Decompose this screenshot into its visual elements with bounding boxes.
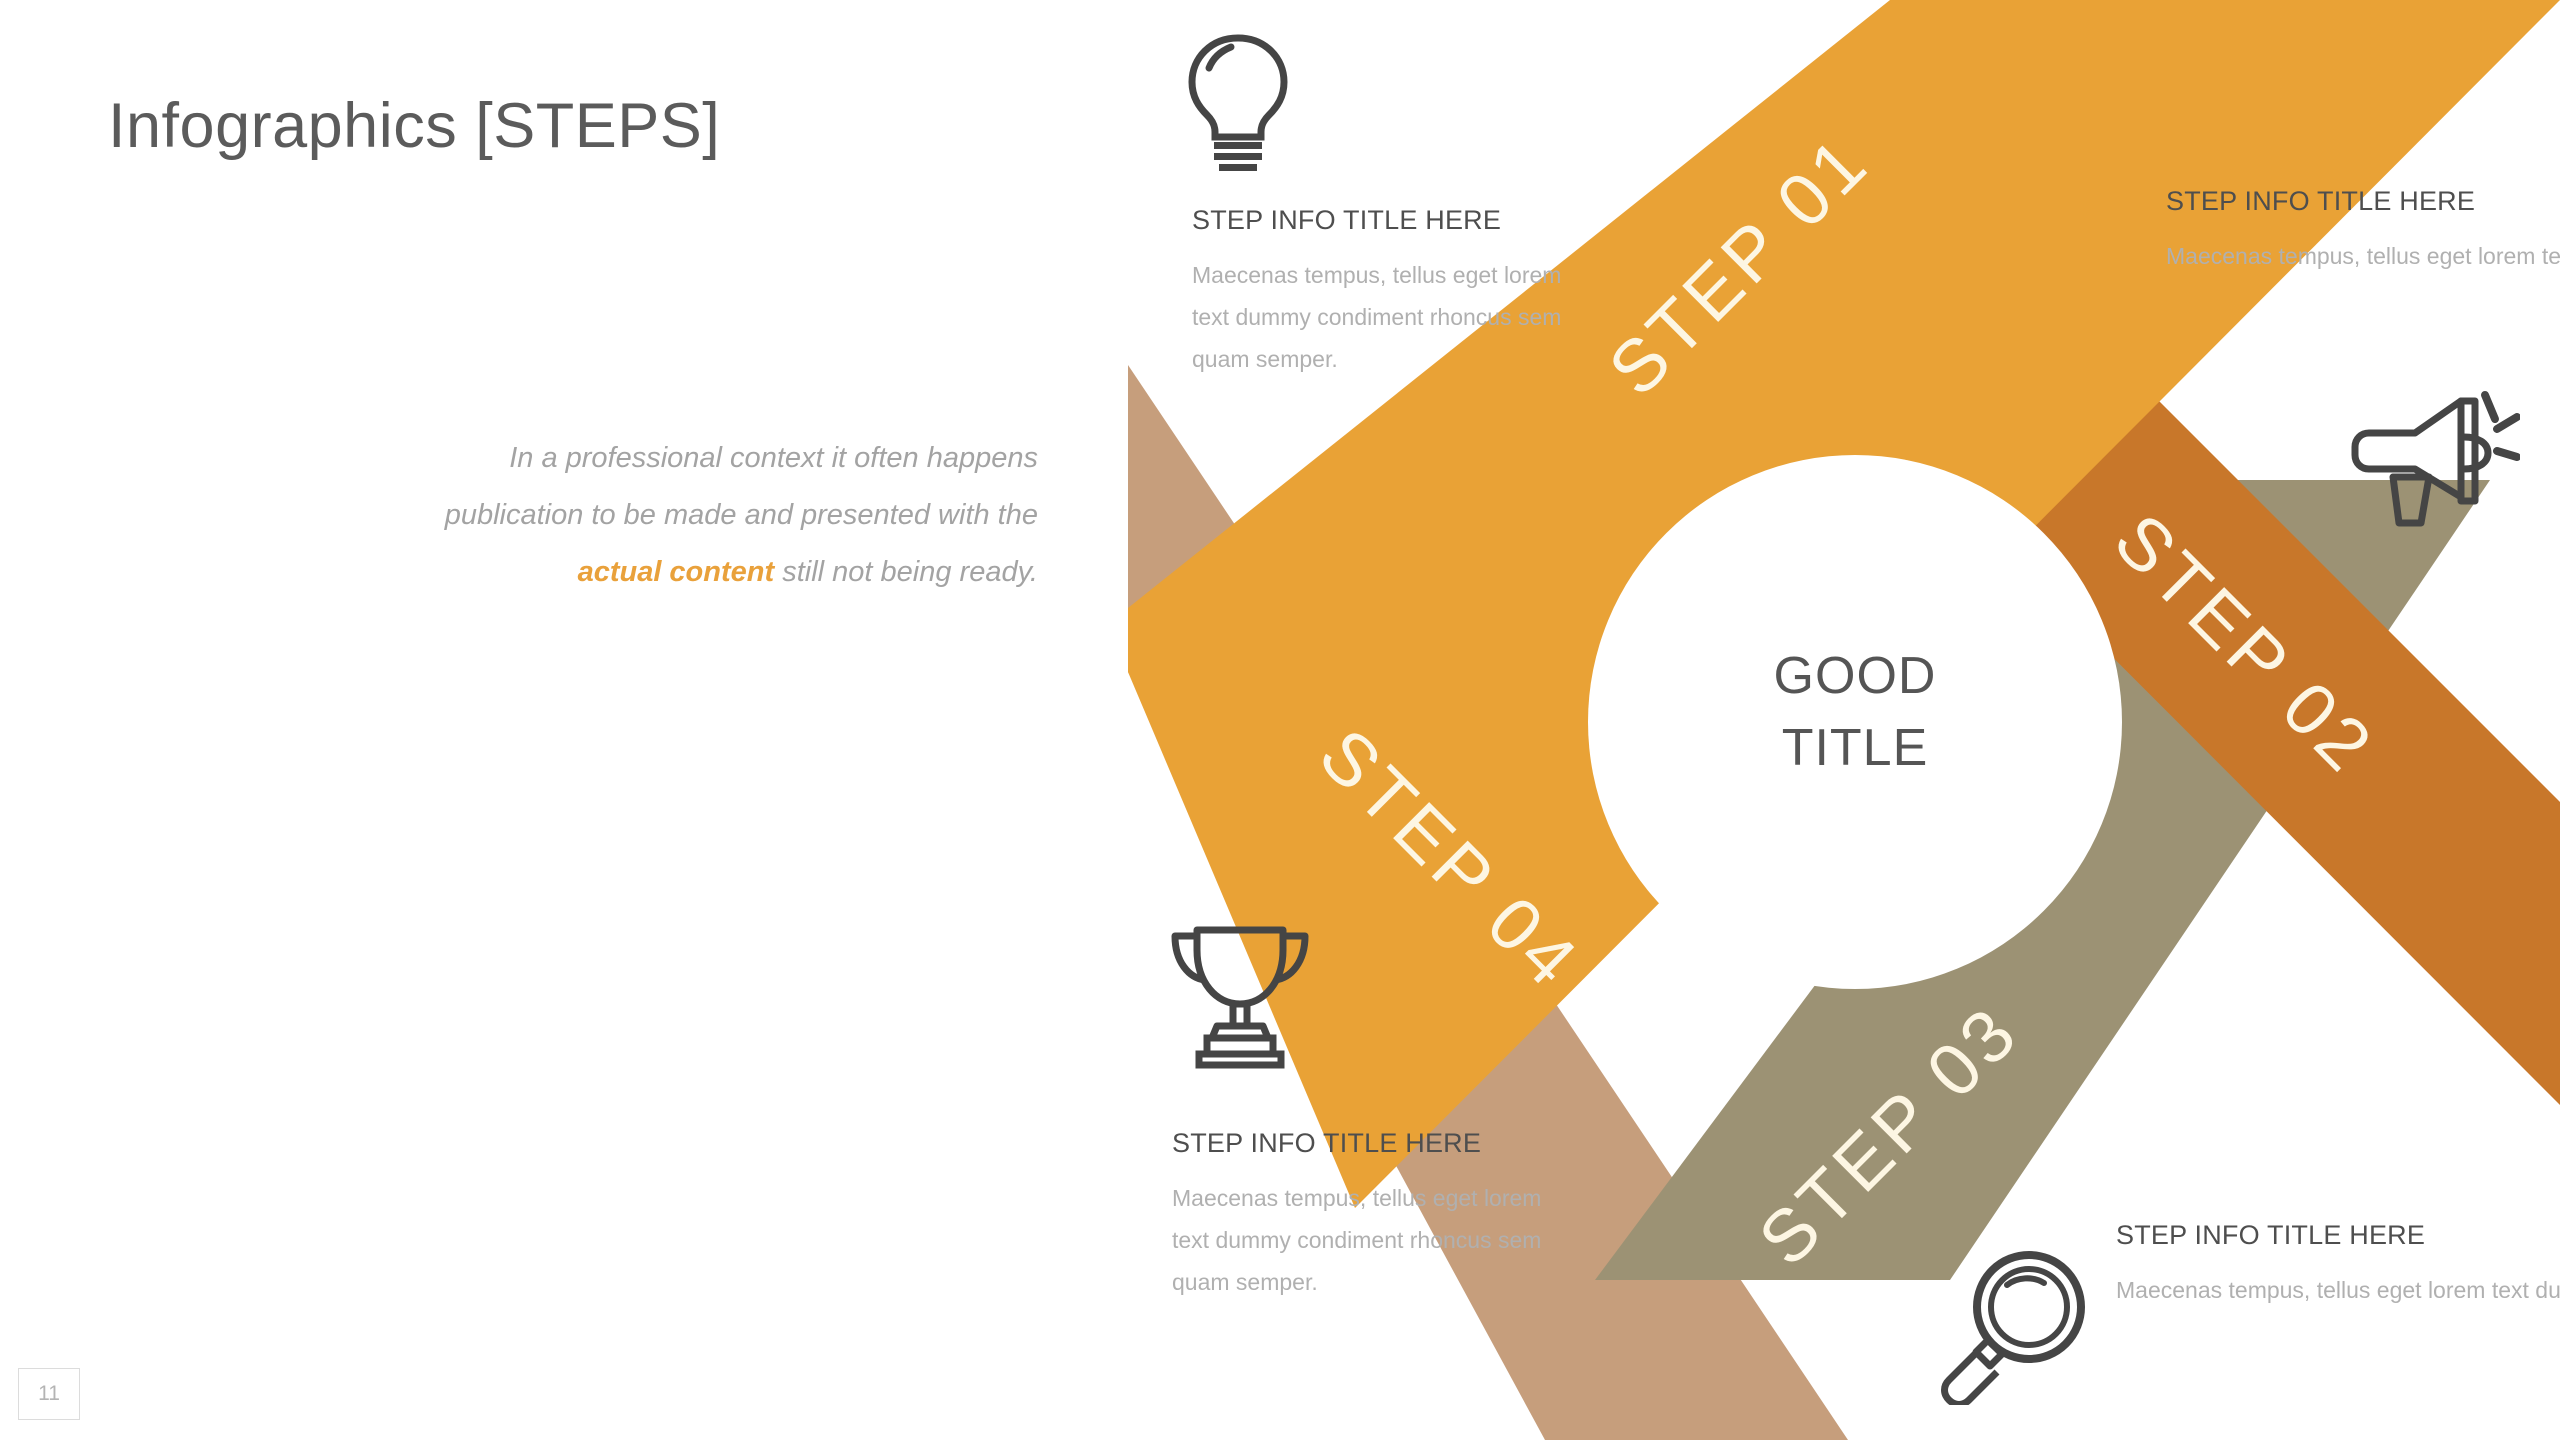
intro-paragraph: In a professional context it often happe… (280, 430, 1038, 601)
step-info-block-04: STEP INFO TITLE HERE Maecenas tempus, te… (1172, 1128, 1582, 1303)
step-info-title: STEP INFO TITLE HERE (1192, 205, 1602, 236)
step-info-title: STEP INFO TITLE HERE (1172, 1128, 1582, 1159)
center-title-line-1: GOOD (1645, 640, 2065, 712)
step-info-body: Maecenas tempus, tellus eget lorem text … (2116, 1269, 2526, 1311)
center-title-line-2: TITLE (1645, 712, 2065, 784)
intro-accent-text: actual content (578, 556, 775, 588)
step-info-block-03: STEP INFO TITLE HERE Maecenas tempus, te… (2116, 1220, 2526, 1311)
lightbulb-icon (1178, 30, 1298, 175)
step-info-block-01: STEP INFO TITLE HERE Maecenas tempus, te… (1192, 205, 1602, 380)
step-info-title: STEP INFO TITLE HERE (2166, 186, 2560, 217)
slide-canvas: STEP 01 STEP 02 STEP 03 STEP 04 Infograp… (0, 0, 2560, 1440)
step-info-body: Maecenas tempus, tellus eget lorem text … (1172, 1177, 1582, 1303)
step-info-title: STEP INFO TITLE HERE (2116, 1220, 2526, 1251)
intro-line-3-tail: still not being ready. (774, 556, 1038, 588)
trophy-icon (1155, 910, 1325, 1070)
intro-line-2: publication to be made and presented wit… (445, 499, 1038, 531)
megaphone-icon (2345, 385, 2520, 535)
step-info-body: Maecenas tempus, tellus eget lorem text … (1192, 254, 1602, 380)
page-title: Infographics [STEPS] (108, 90, 720, 162)
magnifier-icon (1935, 1245, 2095, 1405)
step-info-block-02: STEP INFO TITLE HERE Maecenas tempus, te… (2166, 186, 2560, 277)
page-number-badge: 11 (18, 1368, 80, 1420)
center-circle-title: GOOD TITLE (1645, 640, 2065, 784)
step-info-body: Maecenas tempus, tellus eget lorem text … (2166, 235, 2560, 277)
intro-line-1: In a professional context it often happe… (509, 442, 1038, 474)
